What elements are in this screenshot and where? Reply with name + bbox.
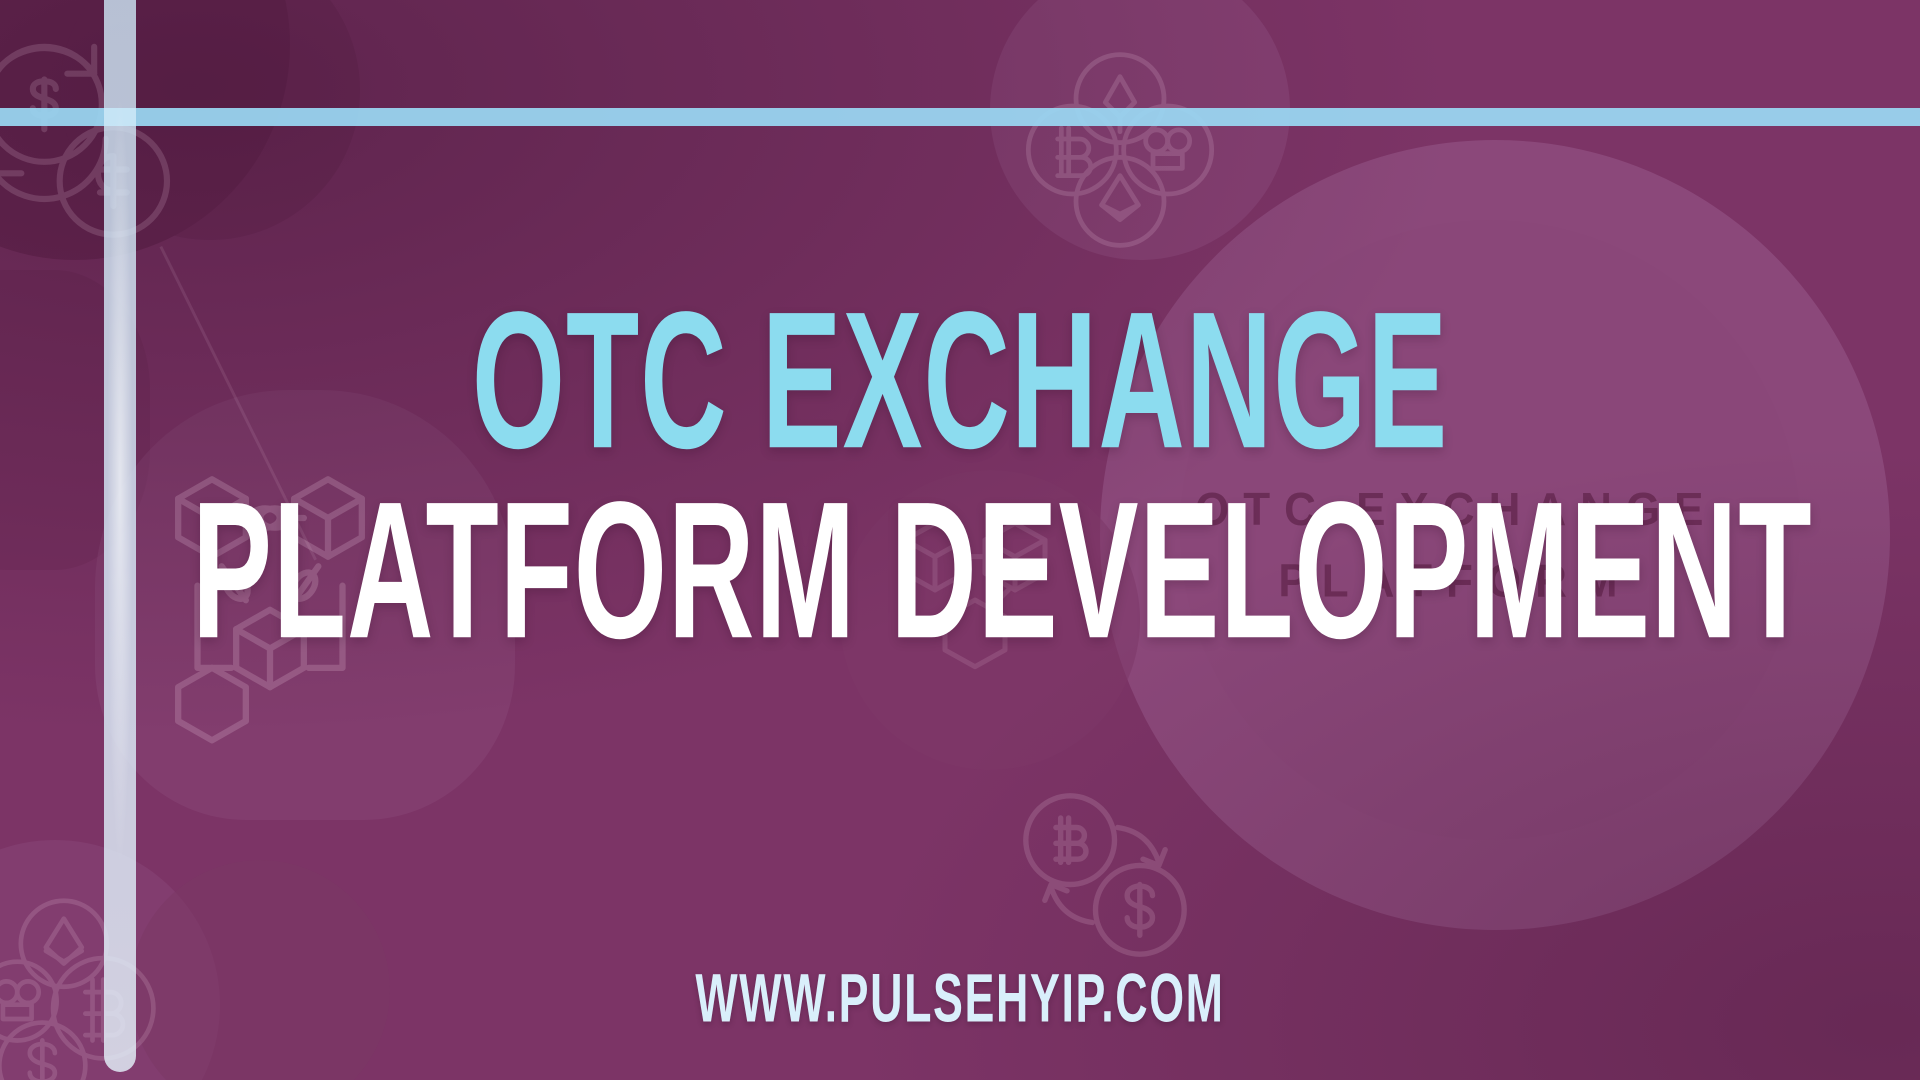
otc-exchange-banner: OTC EXCHANGE PLATFORM OTC EXCHANGE PLATF… bbox=[0, 0, 1920, 1080]
website-url[interactable]: WWW.PULSEHYIP.COM bbox=[192, 958, 1728, 1037]
headline-line-secondary: PLATFORM DEVELOPMENT bbox=[192, 480, 1728, 659]
horizontal-accent-line bbox=[0, 108, 1920, 126]
crypto-coin-cluster-icon bbox=[1010, 40, 1230, 260]
crypto-coin-cluster-icon bbox=[0, 890, 200, 1080]
headline-line-primary: OTC EXCHANGE bbox=[192, 290, 1728, 469]
currency-exchange-icon bbox=[0, 20, 190, 250]
bitcoin-dollar-swap-icon bbox=[1010, 780, 1200, 970]
headline: OTC EXCHANGE PLATFORM DEVELOPMENT bbox=[0, 290, 1920, 618]
